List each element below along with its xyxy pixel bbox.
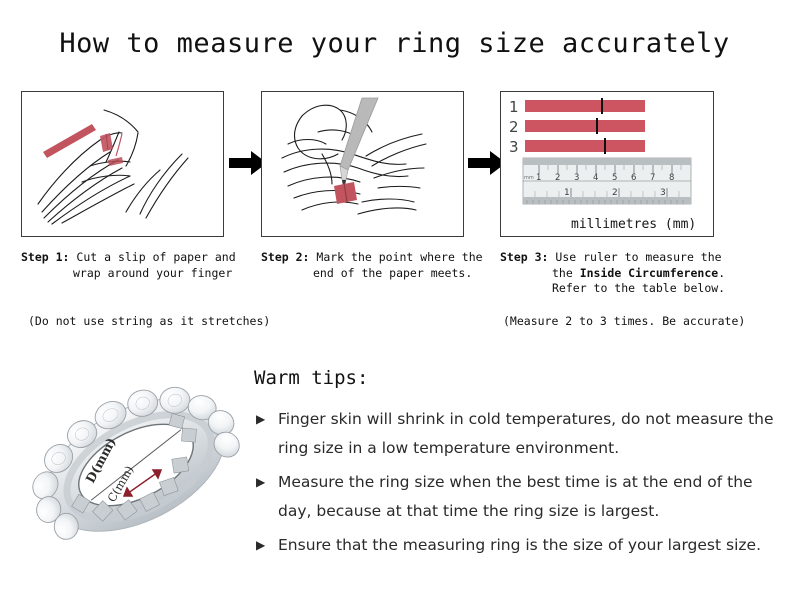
step-3-line2-prefix: the <box>552 266 580 280</box>
ruler-measurement-diagram: 1 2 3 <box>501 92 714 237</box>
bullet-triangle-icon: ▶ <box>256 468 265 497</box>
step-3-line1: Use ruler to measure the <box>555 250 721 264</box>
warm-tips-heading: Warm tips: <box>254 367 368 389</box>
strip-number-2: 2 <box>509 118 519 136</box>
step-3-line3: Refer to the table below. <box>500 281 770 297</box>
hand-marking-paper-icon <box>262 92 464 237</box>
svg-text:3: 3 <box>574 173 579 183</box>
step-3-caption: Step 3: Use ruler to measure the the Ins… <box>500 250 770 297</box>
step-2-caption: Step 2: Mark the point where the end of … <box>261 250 501 281</box>
ring-diagram: D(mm) C(mm) <box>18 358 254 573</box>
svg-text:1: 1 <box>564 188 570 198</box>
list-item: ▶ Ensure that the measuring ring is the … <box>254 531 774 560</box>
ruler-unit-label: millimetres (mm) <box>571 217 696 232</box>
svg-text:mm: mm <box>524 175 534 181</box>
step-2-line2: end of the paper meets. <box>261 266 501 282</box>
step-1-panel <box>21 91 224 237</box>
step-2-label: Step 2: <box>261 250 309 264</box>
step-3-note: (Measure 2 to 3 times. Be accurate) <box>503 314 745 328</box>
step-3-line2: the Inside Circumference. <box>500 266 770 282</box>
step-3-line2-suffix: . <box>718 266 725 280</box>
page-title: How to measure your ring size accurately <box>0 28 789 59</box>
svg-text:6: 6 <box>631 173 636 183</box>
step-1-line2: wrap around your finger <box>21 266 261 282</box>
ring-illustration-icon: D(mm) C(mm) <box>18 358 254 573</box>
bullet-triangle-icon: ▶ <box>256 405 265 434</box>
svg-text:1: 1 <box>536 173 541 183</box>
svg-text:4: 4 <box>593 173 598 183</box>
strip-number-1: 1 <box>509 98 519 116</box>
step-3-label: Step 3: <box>500 250 548 264</box>
tip-text: Finger skin will shrink in cold temperat… <box>278 410 774 457</box>
inside-circumference-emphasis: Inside Circumference <box>580 266 718 280</box>
svg-text:8: 8 <box>669 173 674 183</box>
tip-text: Ensure that the measuring ring is the si… <box>278 536 761 554</box>
tip-text: Measure the ring size when the best time… <box>278 473 753 520</box>
svg-text:2: 2 <box>612 188 618 198</box>
svg-text:5: 5 <box>612 173 617 183</box>
step-1-line1: Cut a slip of paper and <box>76 250 235 264</box>
step-2-panel <box>261 91 464 237</box>
step-1-caption: Step 1: Cut a slip of paper and wrap aro… <box>21 250 261 281</box>
list-item: ▶ Finger skin will shrink in cold temper… <box>254 405 774 463</box>
warm-tips-list: ▶ Finger skin will shrink in cold temper… <box>254 405 774 565</box>
step-3-panel: 1 2 3 <box>500 91 714 237</box>
bullet-triangle-icon: ▶ <box>256 531 265 560</box>
step-2-line1: Mark the point where the <box>316 250 482 264</box>
svg-text:3: 3 <box>660 188 666 198</box>
ring-size-guide-page: How to measure your ring size accurately <box>0 0 789 606</box>
strip-number-3: 3 <box>509 138 519 156</box>
svg-text:2: 2 <box>555 173 560 183</box>
svg-text:7: 7 <box>650 173 655 183</box>
step-1-label: Step 1: <box>21 250 69 264</box>
hand-with-paper-strip-icon <box>22 92 224 237</box>
list-item: ▶ Measure the ring size when the best ti… <box>254 468 774 526</box>
step-1-note: (Do not use string as it stretches) <box>28 314 270 328</box>
